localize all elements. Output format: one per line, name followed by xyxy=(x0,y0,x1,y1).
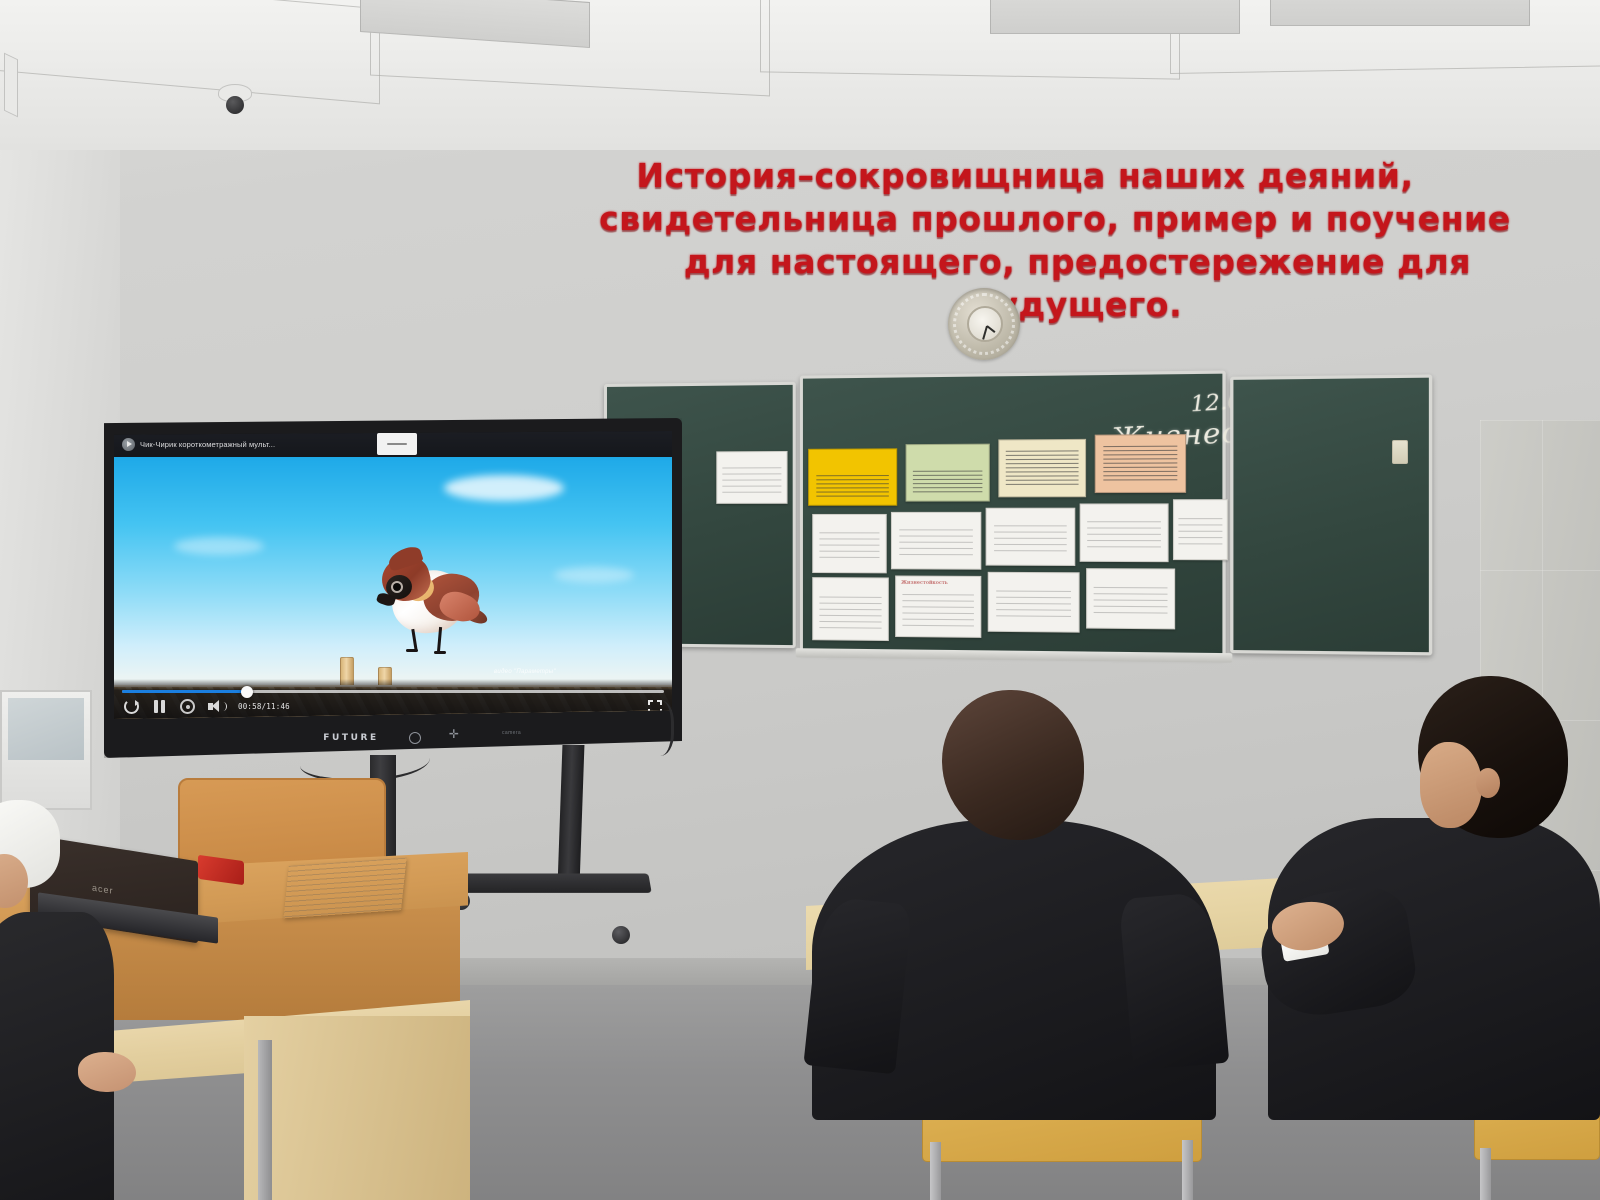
ceiling xyxy=(0,0,1600,150)
student-drawing-butterfly xyxy=(1173,499,1228,560)
poster-text-lines xyxy=(1006,450,1078,486)
cloud xyxy=(444,475,564,501)
person-left-hand xyxy=(78,1052,136,1092)
display-stand-base xyxy=(453,873,651,892)
volume-icon[interactable] xyxy=(208,699,223,714)
student-drawing xyxy=(986,508,1076,566)
drawing-scribble xyxy=(1088,521,1161,550)
window-pane xyxy=(8,698,84,760)
control-buttons-left[interactable]: 00:58/11:46 xyxy=(124,699,290,714)
wall-quote-line-1: История–сокровищница наших деяний, xyxy=(520,155,1530,198)
home-button[interactable] xyxy=(451,732,463,744)
poster-text-lines xyxy=(816,475,889,497)
wall-quote-line-2: свидетельница прошлого, пример и поучени… xyxy=(520,198,1530,241)
progress-handle[interactable] xyxy=(241,686,253,698)
student-drawing xyxy=(891,512,981,570)
student-right-ear xyxy=(1476,768,1500,798)
board-sheet xyxy=(716,451,787,504)
poster-peach xyxy=(1095,434,1186,493)
poster-text-lines xyxy=(1103,445,1178,482)
wall-hook xyxy=(1392,440,1408,464)
chalkboard-panel-right xyxy=(1230,374,1432,655)
pause-icon[interactable] xyxy=(152,699,167,714)
ornate-wall-clock xyxy=(948,288,1020,360)
window xyxy=(0,690,92,810)
drawing-scribble xyxy=(819,596,882,628)
chair-leg xyxy=(930,1142,941,1200)
drawing-caption: Жизнестойкость xyxy=(901,580,947,586)
student-drawing xyxy=(812,514,887,573)
drawing-scribble xyxy=(996,590,1071,621)
gear-icon[interactable] xyxy=(180,699,195,714)
wall-quote: История–сокровищница наших деяний, свиде… xyxy=(520,155,1530,327)
student-drawing-resilience: Жизнестойкость xyxy=(895,575,981,637)
clock-face xyxy=(967,306,1003,342)
bird-eye xyxy=(393,583,401,591)
ceiling-light-panel xyxy=(1270,0,1530,26)
play-badge-icon xyxy=(122,438,135,451)
progress-bar[interactable] xyxy=(122,690,664,693)
poster-yellow xyxy=(808,448,897,506)
ceiling-light-panel xyxy=(990,0,1240,34)
poster-cream xyxy=(998,439,1086,498)
sheet-caption xyxy=(721,455,723,461)
replay-icon[interactable] xyxy=(124,699,139,714)
video-watermark: видео "Параметры" xyxy=(494,669,556,675)
chair-leg xyxy=(1182,1140,1193,1200)
drawing-scribble xyxy=(899,530,973,559)
caster-wheel xyxy=(612,926,630,944)
sheet-scribble xyxy=(723,467,781,494)
front-desk-leg xyxy=(258,1040,272,1200)
student-drawing xyxy=(812,577,889,641)
video-title: Чик-Чирик короткометражный мульт... xyxy=(140,440,275,449)
front-desk-side xyxy=(244,1016,470,1200)
bird-foot xyxy=(406,649,418,652)
bird-foot xyxy=(434,651,446,654)
student-right-face xyxy=(1420,742,1482,828)
chalkboard: 12.02.25 Жизнестойкость xyxy=(604,368,1432,664)
clock-minute-hand xyxy=(982,326,988,340)
person-left xyxy=(0,800,154,1200)
drawing-scribble xyxy=(819,532,880,562)
poster-green xyxy=(906,444,990,502)
drawing-scribble xyxy=(1094,587,1167,618)
drawing-scribble xyxy=(903,594,974,626)
animated-bird xyxy=(366,545,482,647)
timecode: 00:58/11:46 xyxy=(238,702,290,711)
security-camera-icon xyxy=(226,96,244,114)
ceiling-conduit xyxy=(4,53,18,118)
student-drawing xyxy=(1086,568,1175,629)
papers xyxy=(283,858,406,919)
wall-quote-line-3: для настоящего, предостережение для буду… xyxy=(520,241,1530,327)
ceiling-tile xyxy=(0,0,380,104)
drawing-scribble xyxy=(1178,518,1222,549)
display-cable xyxy=(640,700,674,756)
chair-leg xyxy=(1480,1148,1491,1200)
video-menu-button[interactable] xyxy=(377,433,417,455)
cloud xyxy=(174,537,264,555)
student-drawing xyxy=(988,572,1080,633)
progress-fill xyxy=(122,690,247,693)
classroom-scene: История–сокровищница наших деяний, свиде… xyxy=(0,0,1600,1200)
poster-text-lines xyxy=(913,470,982,492)
display-screen[interactable]: видео "Параметры" Чик-Чирик короткометра… xyxy=(114,431,672,719)
interactive-display[interactable]: видео "Параметры" Чик-Чирик короткометра… xyxy=(104,418,682,758)
drawing-scribble xyxy=(994,526,1068,555)
cloud xyxy=(554,567,634,583)
student-drawing xyxy=(1080,503,1169,562)
